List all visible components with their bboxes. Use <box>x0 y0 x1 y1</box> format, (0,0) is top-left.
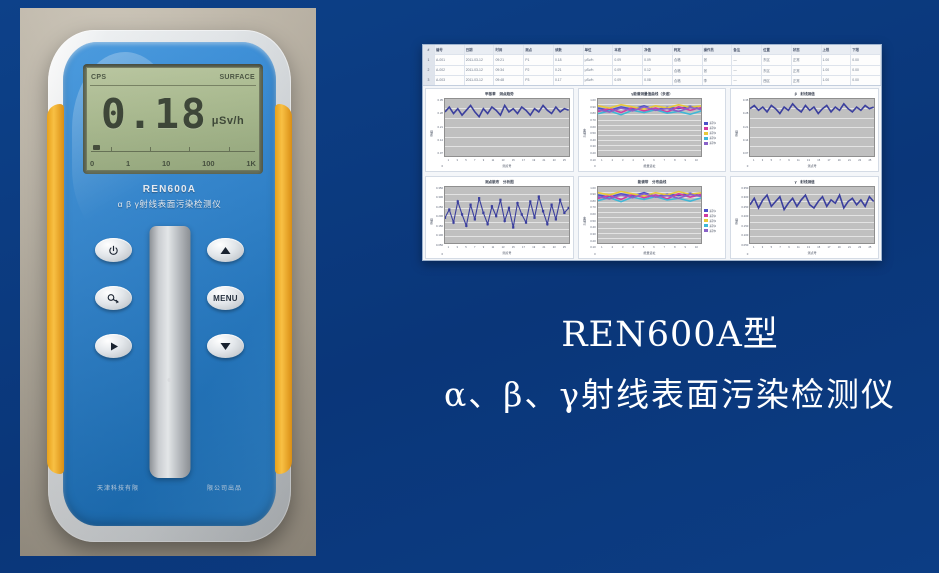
chart-data-point <box>508 206 510 208</box>
device-body: CPS SURFACE 0.18 μSv/h <box>48 30 291 542</box>
chart-y-tick: 0.60 <box>590 212 595 216</box>
chart-series-svg <box>750 99 874 156</box>
chart-y-ticks: 0.3500.3000.2500.2000.1500.1000.0500 <box>434 186 444 257</box>
chart-data-point <box>559 198 561 200</box>
chart-plot-area <box>749 98 875 157</box>
chart-x-tick: 6 <box>653 246 654 249</box>
chart-y-tick: 0.10 <box>590 245 595 249</box>
chart-legend-item[interactable]: 系列1 <box>704 121 722 125</box>
software-screenshot-panel: #编号日期时间测点读数单位本底净值判定操作员备注位置状态上限下限1A-00120… <box>422 44 882 261</box>
table-header-cell: 状态 <box>792 45 822 54</box>
chart-data-point <box>533 216 535 218</box>
table-cell: 0.09 <box>643 55 673 64</box>
table-cell: 0.18 <box>554 55 584 64</box>
table-cell: — <box>732 66 762 75</box>
chart-x-tick: 2 <box>612 159 613 162</box>
legend-swatch-icon <box>704 127 708 130</box>
chart-data-point <box>512 226 514 228</box>
chart-plot-area <box>597 186 703 245</box>
lcd-bargraph-tick <box>229 147 230 151</box>
chart-y-ticks: 1.000.900.800.700.600.500.400.300.200.10… <box>587 98 597 169</box>
company-text-right: 限公司出品 <box>207 483 242 492</box>
chart-title: β 射线测值 <box>734 92 875 97</box>
table-cell: μSv/h <box>584 66 614 75</box>
chart-y-tick: 0.90 <box>590 192 595 196</box>
up-button[interactable] <box>207 238 244 262</box>
chart-x-tick: 21 <box>848 246 851 249</box>
chart-x-tick: 9 <box>483 246 484 249</box>
chart-x-tick: 3 <box>762 246 763 249</box>
chart-legend-label: 系列2 <box>709 214 716 218</box>
chart-x-tick: 9 <box>788 246 789 249</box>
table-cell: 0.12 <box>643 66 673 75</box>
chart-series-line <box>445 105 569 116</box>
chart-x-tick: 8 <box>674 246 675 249</box>
chart-y-tick: 0 <box>594 252 596 256</box>
table-cell: 0.17 <box>554 76 584 85</box>
chart-legend-item[interactable]: 系列2 <box>704 126 722 130</box>
table-row[interactable]: 1A-0012011-03-1209:21P10.18μSv/h0.090.09… <box>423 55 881 65</box>
play-button[interactable] <box>95 334 132 358</box>
chart-x-tick: 4 <box>632 159 633 162</box>
chart-y-tick: 0.30 <box>590 232 595 236</box>
table-cell: 09:21 <box>494 55 524 64</box>
chart-x-tick: 7 <box>474 246 475 249</box>
device-model-subtitle: α β γ射线表面污染检测仪 <box>63 198 276 210</box>
chart-legend-label: 系列5 <box>709 141 716 145</box>
lcd-reading-row: 0.18 μSv/h <box>91 88 255 140</box>
chart-data-point <box>491 205 493 207</box>
lcd-scale-tick: 1 <box>126 159 130 168</box>
chart-x-tick: 23 <box>553 246 556 249</box>
legend-swatch-icon <box>704 137 708 140</box>
chart-x-tick: 25 <box>563 159 566 162</box>
chart-body: 读数0.3500.3000.2500.2000.1500.1000.050013… <box>429 186 570 257</box>
chart-data-point <box>555 218 557 220</box>
chart-x-tick: 21 <box>542 159 545 162</box>
chart-x-axis-label: 能量道址 <box>597 251 703 256</box>
chart-y-tick: 0.200 <box>741 214 748 218</box>
table-header-cell: 操作员 <box>703 45 733 54</box>
chart-x-tick: 5 <box>771 159 772 162</box>
table-cell: 0.09 <box>613 55 643 64</box>
table-cell: — <box>732 55 762 64</box>
device-model-name: REN600A <box>63 184 276 195</box>
lcd-bargraph-tick <box>111 147 112 151</box>
chart-y-tick: 0.200 <box>436 214 443 218</box>
chart-body: 读数0.350.280.210.140.07013579111315171921… <box>429 98 570 169</box>
chart-x-tick: 1 <box>753 246 754 249</box>
chart-legend-label: 系列1 <box>709 209 716 213</box>
table-cell: A-002 <box>435 66 465 75</box>
chart-legend: 系列1系列2系列3系列4系列5 <box>702 186 722 257</box>
chart-y-axis-label: 读数 <box>734 186 739 257</box>
chart-data-point <box>568 206 569 208</box>
chart-x-tick: 21 <box>848 159 851 162</box>
legend-swatch-icon <box>704 229 708 232</box>
side-grip-right <box>275 104 292 474</box>
table-header-cell: 下限 <box>851 45 881 54</box>
down-button[interactable] <box>207 334 244 358</box>
chart-legend-item[interactable]: 系列5 <box>704 229 722 233</box>
table-cell: 正常 <box>792 66 822 75</box>
chart-title: 甲基苯 测点趋势 <box>429 92 570 97</box>
chart-data-point <box>516 201 518 203</box>
lcd-unit: μSv/h <box>212 115 244 127</box>
chart-x-tick: 11 <box>797 159 800 162</box>
table-cell: A-001 <box>435 55 465 64</box>
chart-series-svg <box>598 187 702 244</box>
chart-data-point <box>538 195 540 197</box>
table-cell: — <box>732 76 762 85</box>
legend-swatch-icon <box>704 209 708 212</box>
chart-plot-wrap: 135791113151719212325测点号 <box>444 186 570 257</box>
chart-y-tick: 0.300 <box>436 195 443 199</box>
table-cell: μSv/h <box>584 76 614 85</box>
lcd-scale-tick: 100 <box>202 159 215 168</box>
chart-x-tick: 17 <box>828 159 831 162</box>
chart-x-axis-label: 能量道址 <box>597 164 703 169</box>
chart-y-tick: 0.70 <box>590 118 595 122</box>
chart-x-tick: 2 <box>612 246 613 249</box>
chart-x-tick: 23 <box>553 159 556 162</box>
chart-legend-label: 系列4 <box>709 224 716 228</box>
chart-title: γ 射线测值 <box>734 180 875 185</box>
chart-y-axis-label: 计数率 <box>582 98 587 169</box>
chart-x-tick: 17 <box>522 159 525 162</box>
chart-y-tick: 0.28 <box>438 111 443 115</box>
chart-x-ticks: 135791113151719212325 <box>749 157 875 164</box>
chart-y-tick: 0.14 <box>438 138 443 142</box>
chart-x-tick: 7 <box>664 159 665 162</box>
product-photo: CPS SURFACE 0.18 μSv/h <box>20 8 316 556</box>
table-cell: 合格 <box>673 66 703 75</box>
title-block: REN600A型 α、β、γ射线表面污染检测仪 <box>420 318 920 413</box>
table-cell: 0.09 <box>613 66 643 75</box>
chart-y-tick: 0.350 <box>741 186 748 190</box>
chart-body: 计数率1.000.900.800.700.600.500.400.300.200… <box>582 98 723 169</box>
chart-y-tick: 0.300 <box>741 195 748 199</box>
table-header-cell: 本底 <box>613 45 643 54</box>
chart-x-tick: 5 <box>643 159 644 162</box>
table-header-cell: 单位 <box>584 45 614 54</box>
table-cell: P2 <box>524 66 554 75</box>
lcd-status-right: SURFACE <box>219 74 255 81</box>
table-header-cell: 净值 <box>643 45 673 54</box>
lcd-divider <box>90 85 256 86</box>
page-title: REN600A型 <box>420 318 920 353</box>
chart-plot-wrap: 12345678910能量道址 <box>597 98 703 169</box>
chart-y-ticks: 0.350.280.210.140.070 <box>739 98 749 169</box>
table-cell: 正常 <box>792 55 822 64</box>
chart-y-tick: 0.250 <box>741 205 748 209</box>
company-text-left: 天津科技有限 <box>97 483 139 492</box>
chart-x-tick: 3 <box>456 246 457 249</box>
legend-swatch-icon <box>704 142 708 145</box>
chart-y-tick: 0.20 <box>590 239 595 243</box>
chart-data-point <box>499 198 501 200</box>
chart-x-tick: 13 <box>807 246 810 249</box>
chart-y-tick: 0.80 <box>590 199 595 203</box>
table-cell: 0.00 <box>851 55 881 64</box>
chart-body: 读数0.350.280.210.140.07013579111315171921… <box>734 98 875 169</box>
chart-x-tick: 1 <box>601 246 602 249</box>
chart-x-tick: 5 <box>465 159 466 162</box>
chart-plot-area <box>444 186 570 245</box>
chart-x-tick: 9 <box>483 159 484 162</box>
chart-x-tick: 1 <box>448 159 449 162</box>
device-center-strip <box>149 226 190 478</box>
chart-y-tick: 0.07 <box>438 151 443 155</box>
chart-data-point <box>495 214 497 216</box>
chart-x-tick: 3 <box>622 246 623 249</box>
table-cell: 2011-03-12 <box>465 55 495 64</box>
chart-data-point <box>529 200 531 202</box>
chart-series-svg <box>445 99 569 156</box>
chart-series-line <box>445 196 569 227</box>
chart-x-tick: 25 <box>868 246 871 249</box>
table-cell: 0.21 <box>554 66 584 75</box>
table-cell: 09:34 <box>494 66 524 75</box>
legend-swatch-icon <box>704 132 708 135</box>
chart-x-tick: 8 <box>674 159 675 162</box>
chart-y-tick: 0.150 <box>436 224 443 228</box>
page-subtitle: α、β、γ射线表面污染检测仪 <box>420 377 920 413</box>
chart-x-tick: 10 <box>695 246 698 249</box>
table-header-cell: 读数 <box>554 45 584 54</box>
chart-x-tick: 3 <box>762 159 763 162</box>
chart-series-svg <box>750 187 874 244</box>
table-header-cell: 上限 <box>822 45 852 54</box>
chart-y-tick: 0.050 <box>436 243 443 247</box>
lcd-bargraph <box>91 142 255 152</box>
menu-button-label: MENU <box>213 294 238 303</box>
table-cell: 2011-03-12 <box>465 76 495 85</box>
chart-legend-item[interactable]: 系列2 <box>704 214 722 218</box>
chart-y-tick: 0 <box>441 164 443 168</box>
chart-x-tick: 19 <box>838 159 841 162</box>
chart-x-ticks: 135791113151719212325 <box>749 244 875 251</box>
table-row[interactable]: 3A-0032011-03-1209:48P30.17μSv/h0.090.08… <box>423 76 881 85</box>
chart-y-tick: 0.14 <box>743 138 748 142</box>
chart-x-axis-label: 测点号 <box>444 164 570 169</box>
table-header-cell: 判定 <box>673 45 703 54</box>
chart-x-tick: 9 <box>685 159 686 162</box>
chart-data-point <box>521 213 523 215</box>
chart-x-tick: 15 <box>817 159 820 162</box>
chart-title: γ能谱测量值曲线（多道） <box>582 92 723 97</box>
chart-y-tick: 1.00 <box>590 186 595 190</box>
search-button[interactable] <box>95 286 132 310</box>
chart-plot-wrap: 135791113151719212325测点号 <box>749 186 875 257</box>
chart-y-tick: 0.150 <box>741 224 748 228</box>
chart-x-tick: 1 <box>753 159 754 162</box>
legend-swatch-icon <box>704 219 708 222</box>
lcd-status-row: CPS SURFACE <box>91 70 255 84</box>
table-cell: 李 <box>703 76 733 85</box>
chart-data-point <box>487 222 489 224</box>
table-cell: P1 <box>524 55 554 64</box>
chart-x-tick: 1 <box>601 159 602 162</box>
chart-x-axis-label: 测点号 <box>749 164 875 169</box>
chart-data-point <box>546 222 548 224</box>
lcd-status-left: CPS <box>91 74 106 81</box>
chart-x-tick: 13 <box>807 159 810 162</box>
chart-gamma-surface[interactable]: γ 射线测值读数0.3500.3000.2500.2000.1500.1000.… <box>730 176 879 260</box>
lcd-bezel: CPS SURFACE 0.18 μSv/h <box>83 64 263 174</box>
lcd-scale-tick: 1K <box>246 159 256 168</box>
menu-button[interactable]: MENU <box>207 286 244 310</box>
legend-swatch-icon <box>704 224 708 227</box>
chart-plot-wrap: 12345678910能量道址 <box>597 186 703 257</box>
table-cell: 09:48 <box>494 76 524 85</box>
chart-legend-label: 系列3 <box>709 131 716 135</box>
chart-y-tick: 0.250 <box>436 205 443 209</box>
chart-y-tick: 0.50 <box>590 131 595 135</box>
chart-x-tick: 7 <box>779 159 780 162</box>
chart-x-ticks: 135791113151719212325 <box>444 244 570 251</box>
chart-x-tick: 1 <box>448 246 449 249</box>
chart-data-point <box>461 213 463 215</box>
legend-swatch-icon <box>704 122 708 125</box>
chart-y-tick: 0.35 <box>743 98 748 102</box>
lcd-scale-tick: 0 <box>90 159 94 168</box>
play-icon <box>108 341 120 352</box>
chart-series-line <box>750 104 874 114</box>
chart-legend-item[interactable]: 系列4 <box>704 224 722 228</box>
chart-x-tick: 3 <box>622 159 623 162</box>
chart-y-tick: 0.21 <box>743 125 748 129</box>
table-row[interactable]: 2A-0022011-03-1209:34P20.21μSv/h0.090.12… <box>423 66 881 76</box>
strip-screw-dot <box>168 378 172 382</box>
table-header-cell: 日期 <box>465 45 495 54</box>
chart-legend-item[interactable]: 系列5 <box>704 141 722 145</box>
chart-alpha-surface[interactable]: 甲基苯 测点趋势读数0.350.280.210.140.070135791113… <box>425 88 574 172</box>
chart-x-tick: 9 <box>685 246 686 249</box>
chart-y-ticks: 0.350.280.210.140.070 <box>434 98 444 169</box>
chart-legend-label: 系列1 <box>709 121 716 125</box>
table-cell: P3 <box>524 76 554 85</box>
chart-x-axis-label: 测点号 <box>444 251 570 256</box>
chart-x-tick: 9 <box>788 159 789 162</box>
triangle-down-icon <box>219 341 232 352</box>
chart-title: 能谱带 分布曲线 <box>582 180 723 185</box>
chart-x-tick: 10 <box>695 159 698 162</box>
chart-x-tick: 5 <box>771 246 772 249</box>
chart-x-tick: 4 <box>632 246 633 249</box>
table-header-cell: 测点 <box>524 45 554 54</box>
chart-x-tick: 11 <box>492 246 495 249</box>
chart-legend-item[interactable]: 系列1 <box>704 209 722 213</box>
chart-y-tick: 0.100 <box>741 233 748 237</box>
chart-y-tick: 0.100 <box>436 233 443 237</box>
device-company-print: 天津科技有限 限公司出品 <box>63 483 276 492</box>
chart-y-tick: 0.30 <box>590 144 595 148</box>
chart-plot-area <box>597 98 703 157</box>
chart-x-tick: 6 <box>653 159 654 162</box>
table-header-cell: 备注 <box>732 45 762 54</box>
power-button[interactable] <box>95 238 132 262</box>
chart-data-point <box>474 218 476 220</box>
chart-x-ticks: 135791113151719212325 <box>444 157 570 164</box>
table-cell: 0.09 <box>613 76 643 85</box>
chart-x-tick: 25 <box>563 246 566 249</box>
chart-legend-item[interactable]: 系列4 <box>704 136 722 140</box>
chart-body: 读数0.3500.3000.2500.2000.1500.1000.050013… <box>734 186 875 257</box>
chart-data-point <box>482 211 484 213</box>
table-cell: 西区 <box>762 76 792 85</box>
chart-multichannel[interactable]: γ能谱测量值曲线（多道）计数率1.000.900.800.700.600.500… <box>578 88 727 172</box>
table-cell: 张 <box>703 55 733 64</box>
chart-y-tick: 0.28 <box>743 111 748 115</box>
lcd-bargraph-tick <box>189 147 190 151</box>
chart-plot-area <box>749 186 875 245</box>
table-cell: 0.00 <box>851 76 881 85</box>
table-header-cell: 编号 <box>435 45 465 54</box>
chart-series-svg <box>598 99 702 156</box>
chart-legend-item[interactable]: 系列3 <box>704 131 722 135</box>
chart-x-tick: 3 <box>456 159 457 162</box>
table-header-cell: 位置 <box>762 45 792 54</box>
chart-beta-surface[interactable]: β 射线测值读数0.350.280.210.140.07013579111315… <box>730 88 879 172</box>
chart-data-point <box>563 211 565 213</box>
chart-plot-area <box>444 98 570 157</box>
table-cell: 2 <box>423 66 435 75</box>
chart-legend-item[interactable]: 系列3 <box>704 219 722 223</box>
table-cell: 合格 <box>673 55 703 64</box>
table-cell: 东区 <box>762 66 792 75</box>
chart-x-tick: 15 <box>817 246 820 249</box>
chart-x-tick: 11 <box>797 246 800 249</box>
chart-y-axis-label: 读数 <box>429 186 434 257</box>
chart-x-tick: 5 <box>643 246 644 249</box>
chart-spectrum-bands[interactable]: 能谱带 分布曲线计数率1.000.900.800.700.600.500.400… <box>578 176 727 260</box>
chart-y-tick: 0.90 <box>590 105 595 109</box>
slide-background: CPS SURFACE 0.18 μSv/h <box>0 0 939 573</box>
chart-data-point <box>469 203 471 205</box>
chart-body: 计数率1.000.900.800.700.600.500.400.300.200… <box>582 186 723 257</box>
chart-legend-label: 系列5 <box>709 229 716 233</box>
chart-x-tick: 15 <box>512 246 515 249</box>
table-cell: 0.00 <box>851 66 881 75</box>
chart-data-point <box>525 221 527 223</box>
table-cell: 1.00 <box>822 55 852 64</box>
chart-plot-wrap: 135791113151719212325测点号 <box>444 98 570 169</box>
chart-scatter-points[interactable]: 测点散布 分析图读数0.3500.3000.2500.2000.1500.100… <box>425 176 574 260</box>
chart-x-tick: 19 <box>532 159 535 162</box>
chart-x-tick: 7 <box>779 246 780 249</box>
chart-y-axis-label: 计数率 <box>582 186 587 257</box>
table-cell: A-003 <box>435 76 465 85</box>
table-header-cell: 时间 <box>494 45 524 54</box>
chart-legend: 系列1系列2系列3系列4系列5 <box>702 98 722 169</box>
legend-swatch-icon <box>704 214 708 217</box>
chart-y-ticks: 0.3500.3000.2500.2000.1500.1000.0500 <box>739 186 749 257</box>
lcd-bargraph-tick <box>150 147 151 151</box>
chart-y-tick: 0 <box>747 252 749 256</box>
chart-y-tick: 0.350 <box>436 186 443 190</box>
chart-y-tick: 0.050 <box>741 243 748 247</box>
chart-x-tick: 7 <box>474 159 475 162</box>
chart-x-ticks: 12345678910 <box>597 244 703 251</box>
chart-y-tick: 0.40 <box>590 225 595 229</box>
chart-y-tick: 0 <box>594 164 596 168</box>
chart-legend-label: 系列3 <box>709 219 716 223</box>
table-header-row: #编号日期时间测点读数单位本底净值判定操作员备注位置状态上限下限 <box>423 45 881 55</box>
side-grip-left <box>47 104 64 474</box>
table-cell: 2011-03-12 <box>465 66 495 75</box>
table-cell: 1.00 <box>822 66 852 75</box>
